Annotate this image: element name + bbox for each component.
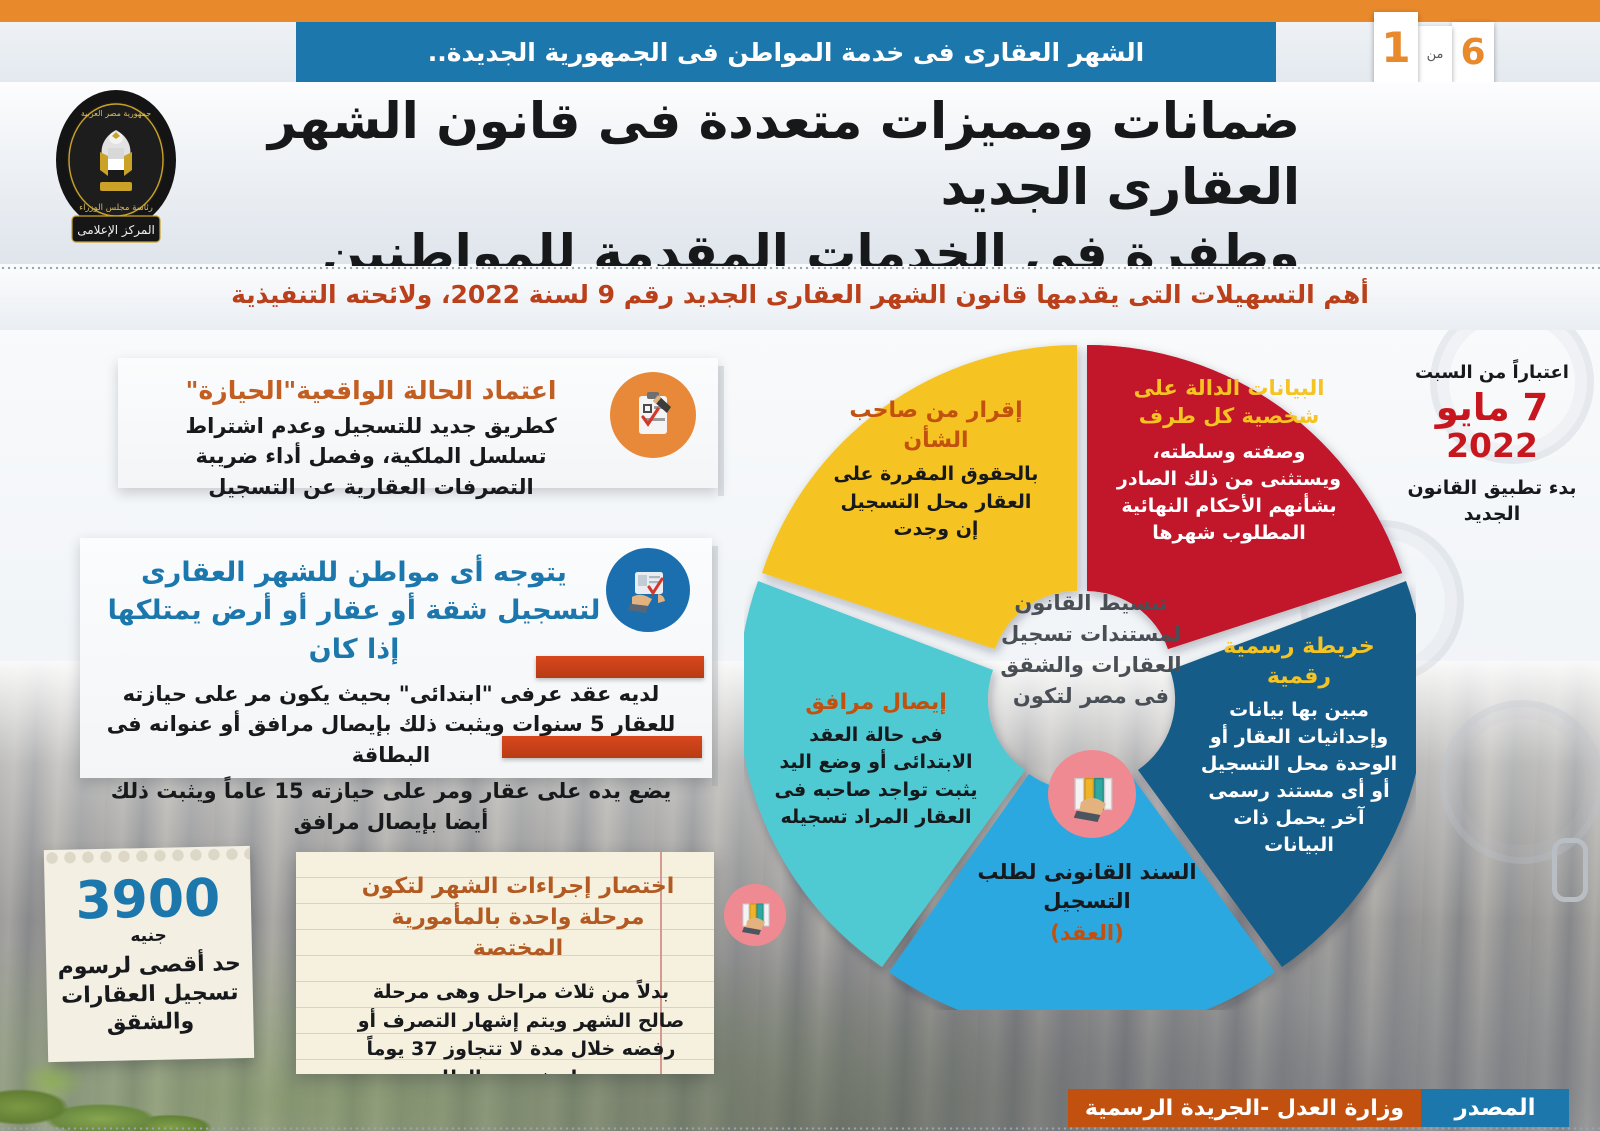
pie-label-identity-body: وصفته وسلطته، ويستثنى من ذلك الصادر بشأن… [1116, 439, 1342, 547]
date-prefix: اعتباراً من السبت [1396, 362, 1588, 383]
card-citizen-heading: يتوجه أى مواطن للشهر العقارى لتسجيل شقة … [106, 554, 602, 669]
card-possession-body: كطريق جديد للتسجيل وعدم اشتراط تسلسل الم… [144, 411, 598, 502]
header-strip-text: الشهر العقارى فى خدمة المواطن فى الجمهور… [428, 38, 1144, 67]
subtitle-band: أهم التسهيلات التى يقدمها قانون الشهر ال… [0, 266, 1600, 330]
paperclip-icon [1552, 838, 1588, 902]
page-total-box: 6 [1452, 22, 1494, 84]
pie-label-utility-bill-body: فى حالة العقد الابتدائى أو وضع اليد يثبت… [770, 722, 982, 832]
svg-text:جمهورية مصر العربية: جمهورية مصر العربية [81, 109, 151, 118]
tablet-hand-check-icon [606, 548, 690, 632]
card-citizen-bullet-2: يضع يده على عقار ومر على حيازته 15 عاماً… [106, 776, 676, 837]
page-title-line1: ضمانات ومميزات متعددة فى قانون الشهر الع… [210, 88, 1300, 220]
fee-note-perforation [44, 846, 250, 866]
header-strip: الشهر العقارى فى خدمة المواطن فى الجمهور… [296, 22, 1276, 82]
pie-label-legal-deed-heading: السند القانونى لطلب التسجيل [962, 858, 1212, 917]
fee-note-card: 3900 جنيه حد أقصى لرسوم تسجيل العقارات و… [44, 846, 254, 1062]
folders-hand-icon [1048, 750, 1136, 838]
pie-label-legal-deed-body: (العقد) [962, 919, 1212, 948]
government-logo: جمهورية مصر العربية رئاسة مجلس الوزراء ا… [48, 86, 184, 254]
page-total: 6 [1460, 35, 1485, 71]
fee-amount: 3900 [44, 868, 251, 932]
pie-label-map: خريطة رسمية رقمية مبين بها بيانات وإحداث… [1199, 632, 1399, 859]
accent-bar-1 [536, 656, 704, 678]
notepad-body: بدلاً من ثلاث مراحل وهى مرحلة صالح الشهر… [350, 978, 692, 1074]
card-possession-heading: اعتماد الحالة الواقعية"الحيازة" [144, 376, 598, 405]
bottom-dotted-rule [0, 1126, 1600, 1131]
pie-label-map-body: مبين بها بيانات وإحداثيات العقار أو الوح… [1199, 697, 1399, 859]
date-year: 2022 [1396, 428, 1588, 464]
source-label: المصدر [1421, 1089, 1569, 1127]
top-orange-bar [0, 0, 1600, 22]
subtitle-dotted-rule [0, 266, 1600, 270]
pie-center-text: تبسيط القانون لمستندات تسجيل العقارات وا… [985, 588, 1197, 712]
pie-label-identity-heading: البيانات الدالة على شخصية كل طرف [1116, 374, 1342, 431]
accent-bar-2 [502, 736, 702, 758]
date-day-month: 7 مايو [1396, 387, 1588, 428]
fee-description: حد أقصى لرسوم تسجيل العقارات والشقق [46, 950, 254, 1040]
source-value: وزارة العدل -الجريدة الرسمية [1068, 1089, 1421, 1127]
notepad-heading: اختصار إجراءات الشهر لتكون مرحلة واحدة ب… [350, 872, 686, 964]
page-current-box: 1 [1374, 12, 1418, 84]
card-shadow-edge [718, 366, 724, 496]
pie-label-declaration-body: بالحقوق المقررة على العقار محل التسجيل إ… [826, 461, 1046, 544]
pie-label-utility-bill-heading: إيصال مرافق [770, 688, 982, 718]
page-of-label: من [1427, 47, 1444, 62]
page-of-box: من [1418, 26, 1452, 82]
infographic-page: الشهر العقارى فى خدمة المواطن فى الجمهور… [0, 0, 1600, 1131]
date-panel: اعتباراً من السبت 7 مايو 2022 بدء تطبيق … [1396, 362, 1588, 527]
pie-label-declaration: إقرار من صاحب الشأن بالحقوق المقررة على … [826, 396, 1046, 544]
pie-label-declaration-heading: إقرار من صاحب الشأن [826, 396, 1046, 455]
notepad-card: اختصار إجراءات الشهر لتكون مرحلة واحدة ب… [296, 852, 714, 1074]
pie-label-identity: البيانات الدالة على شخصية كل طرف وصفته و… [1116, 374, 1342, 547]
page-badge: 6 من 1 [1374, 12, 1494, 84]
clipboard-check-icon [610, 372, 696, 458]
pie-label-legal-deed: السند القانونى لطلب التسجيل (العقد) [962, 858, 1212, 948]
page-title: ضمانات ومميزات متعددة فى قانون الشهر الع… [210, 88, 1300, 286]
pie-label-utility-bill: إيصال مرافق فى حالة العقد الابتدائى أو و… [770, 688, 982, 832]
svg-text:المركز الإعلامى: المركز الإعلامى [77, 223, 155, 238]
card-shadow-edge [712, 546, 718, 786]
subtitle-text: أهم التسهيلات التى يقدمها قانون الشهر ال… [0, 280, 1600, 309]
svg-text:رئاسة مجلس الوزراء: رئاسة مجلس الوزراء [79, 203, 153, 213]
page-current: 1 [1381, 27, 1410, 69]
date-suffix: بدء تطبيق القانون الجديد [1396, 475, 1588, 527]
pie-label-map-heading: خريطة رسمية رقمية [1199, 632, 1399, 691]
